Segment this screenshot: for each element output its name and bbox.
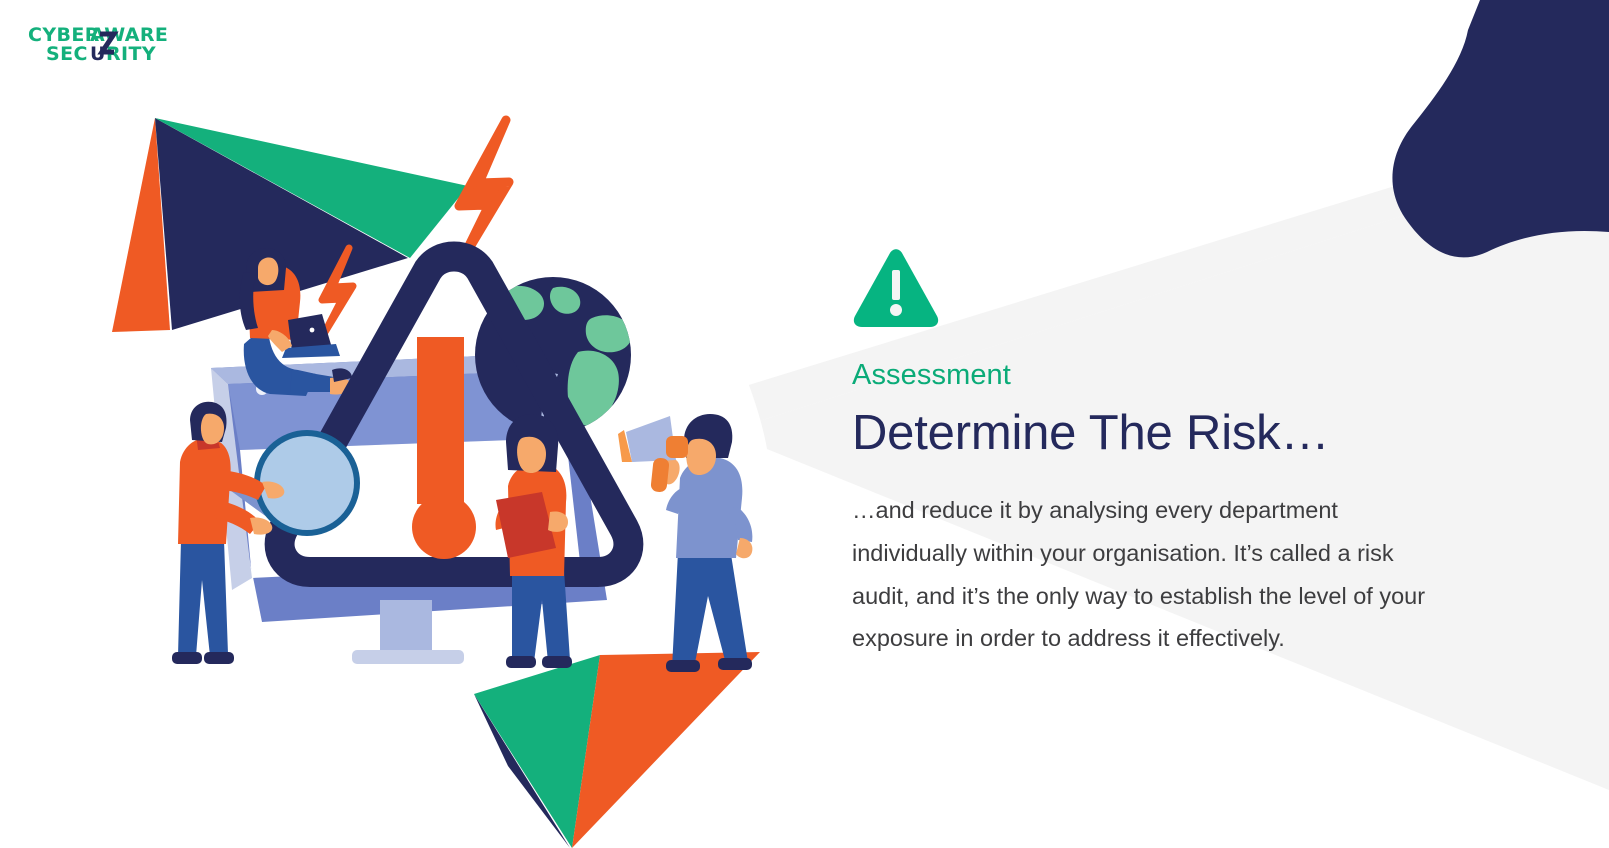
clipboard-person-shoe-left <box>506 656 536 668</box>
exclamation-bar <box>417 337 464 504</box>
brand-logo[interactable]: Cyberaware Security CYBER AWARE SEC U RI… <box>28 22 218 70</box>
warning-triangle-icon <box>852 248 940 328</box>
megaphone-person-shoe-left <box>666 660 700 672</box>
megaphone-person-shoe-right <box>718 658 752 670</box>
magnifier-person-shoe-left <box>172 652 202 664</box>
page-title: Determine The Risk… <box>852 405 1472 461</box>
clipboard-person-face <box>517 437 546 473</box>
laptop-logo-dot <box>310 328 315 333</box>
magnifier-person-shoe-right <box>204 652 234 664</box>
section-eyebrow: Assessment <box>852 358 1472 393</box>
monitor-neck <box>380 600 432 652</box>
content-panel: Assessment Determine The Risk… …and redu… <box>852 248 1472 660</box>
warning-exclamation-dot <box>890 304 902 316</box>
magnifier-person-shirt <box>178 438 231 544</box>
exclamation-dot <box>412 495 476 559</box>
laptop-person-face <box>258 257 278 285</box>
body-paragraph: …and reduce it by analysing every depart… <box>852 489 1452 660</box>
clipboard-person-shoe-right <box>542 656 572 668</box>
megaphone-person-shirt <box>676 457 742 558</box>
logo-text-sec: SEC <box>46 43 88 65</box>
slide-canvas: Cyberaware Security CYBER AWARE SEC U RI… <box>0 0 1609 848</box>
megaphone-mouth <box>666 436 688 458</box>
warning-exclamation-bar <box>892 270 900 300</box>
bottom-orange-triangle <box>572 652 760 848</box>
monitor-base <box>352 650 464 664</box>
